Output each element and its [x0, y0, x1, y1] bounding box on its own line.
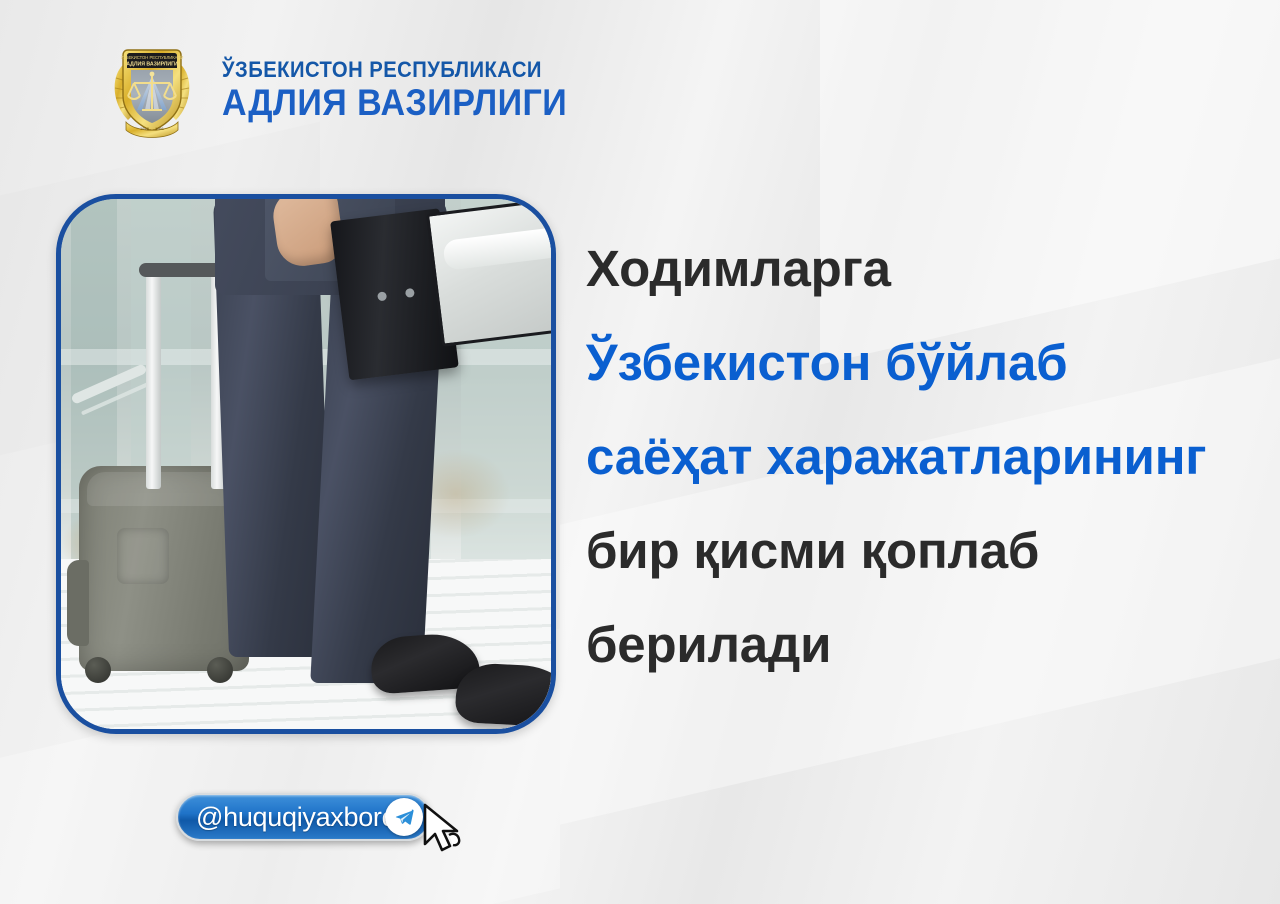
svg-text:АДЛИЯ ВАЗИРЛИГИ: АДЛИЯ ВАЗИРЛИГИ [126, 62, 178, 68]
headline-line-4: бир қисми қоплаб [586, 504, 1266, 598]
headline-line-2: Ўзбекистон бўйлаб [586, 316, 1266, 410]
photo-frame [56, 194, 556, 734]
svg-text:ЎЗБЕКИСТОН РЕСПУБЛИКАСИ: ЎЗБЕКИСТОН РЕСПУБЛИКАСИ [121, 55, 184, 60]
svg-text:1918 — 1991: 1918 — 1991 [140, 126, 165, 131]
organization-line1: ЎЗБЕКИСТОН РЕСПУБЛИКАСИ [222, 57, 567, 82]
organization-line2: АДЛИЯ ВАЗИРЛИГИ [222, 82, 567, 123]
organization-name: ЎЗБЕКИСТОН РЕСПУБЛИКАСИ АДЛИЯ ВАЗИРЛИГИ [222, 57, 597, 124]
headline-block: Ходимларга Ўзбекистон бўйлаб саёҳат хара… [586, 222, 1266, 692]
travel-photo [61, 199, 551, 729]
telegram-paper-plane-icon[interactable] [385, 798, 423, 836]
telegram-channel-badge[interactable]: @huquqiyaxborot [176, 793, 431, 841]
briefcase [330, 199, 551, 380]
headline-line-5: берилади [586, 598, 1266, 692]
justice-scales-shield-emblem-icon: ЎЗБЕКИСТОН РЕСПУБЛИКАСИ АДЛИЯ ВАЗИРЛИГИ [104, 38, 200, 142]
telegram-handle-label: @huquqiyaxborot [196, 802, 404, 833]
organization-header: ЎЗБЕКИСТОН РЕСПУБЛИКАСИ АДЛИЯ ВАЗИРЛИГИ [104, 38, 597, 142]
poster-canvas: ЎЗБЕКИСТОН РЕСПУБЛИКАСИ АДЛИЯ ВАЗИРЛИГИ [0, 0, 1280, 904]
headline-line-1: Ходимларга [586, 222, 1266, 316]
headline-line-3: саёҳат харажатларининг [586, 410, 1266, 504]
